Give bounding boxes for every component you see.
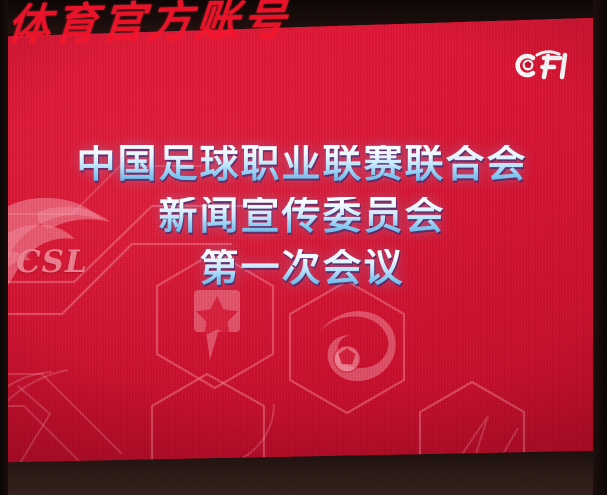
photograph-of-stage-screen: .ln{fill:none;stroke:rgba(255,150,168,.4… (0, 0, 607, 495)
title-line-3: 第一次会议 (2, 249, 602, 288)
led-screen: .ln{fill:none;stroke:rgba(255,150,168,.4… (2, 14, 602, 464)
title-block: 中国足球职业联赛联合会 新闻宣传委员会 第一次会议 (2, 145, 602, 288)
title-line-1: 中国足球职业联赛联合会 (2, 145, 602, 184)
title-line-2: 新闻宣传委员会 (2, 197, 602, 236)
room-wall-left (0, 0, 8, 495)
room-wall-right (593, 0, 607, 495)
